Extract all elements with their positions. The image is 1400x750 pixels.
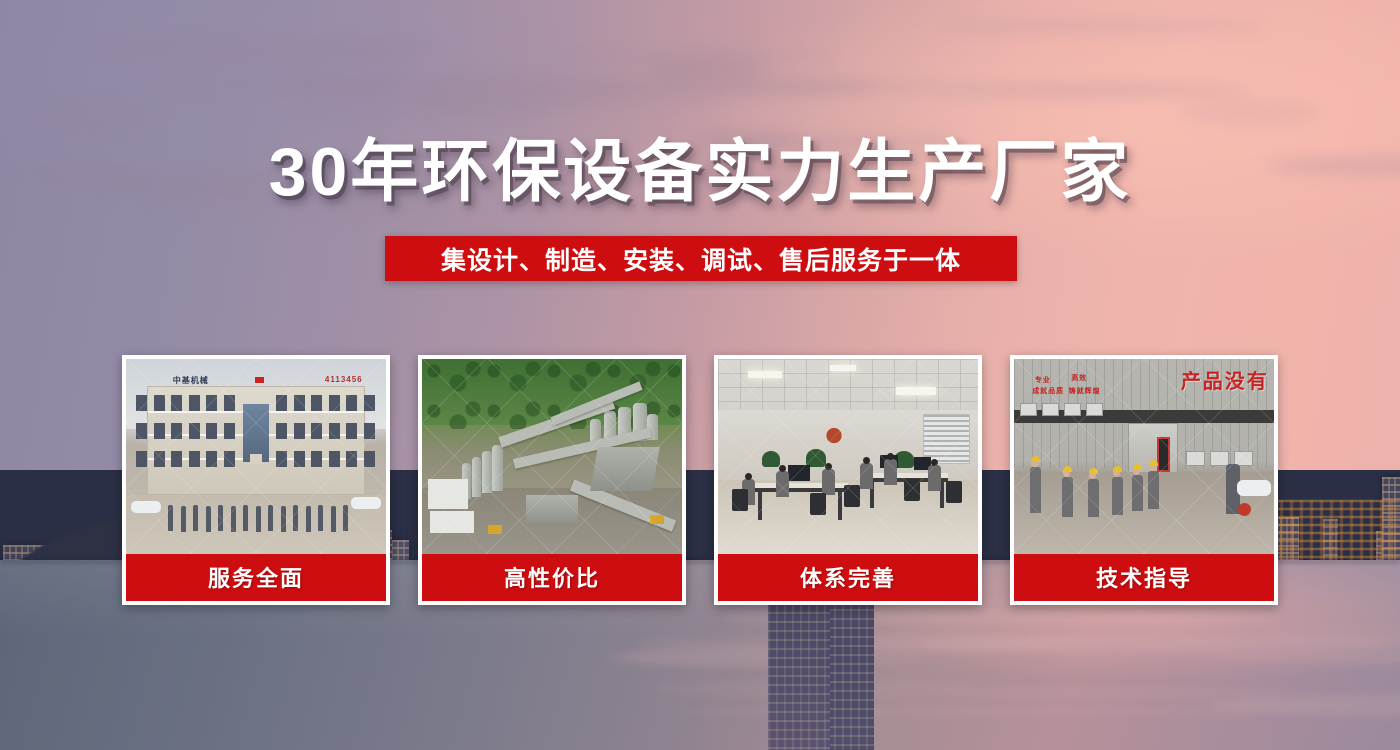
staff-figure (268, 505, 273, 531)
factory-window (1064, 403, 1081, 416)
ceiling-light (896, 387, 936, 395)
yellow-helmet (1089, 468, 1098, 474)
feature-card[interactable]: 产品没有 专业 成就品质 高效 铸就辉煌 技术指导 (1010, 355, 1278, 605)
potted-plant (762, 451, 780, 467)
worker-figure (1030, 467, 1041, 513)
worker-figure (1088, 479, 1099, 517)
yellow-machine (488, 525, 502, 534)
staff-figure (343, 505, 348, 531)
feature-card[interactable]: 中基机械 4113456 服务全面 (122, 355, 390, 605)
office-worker (928, 465, 941, 491)
feature-card[interactable]: 体系完善 (714, 355, 982, 605)
office-chair (810, 493, 826, 515)
office-worker (776, 471, 789, 497)
staff-figure (231, 506, 236, 532)
factory-sign-text: 产品没有 (1181, 365, 1269, 394)
card-label: 体系完善 (718, 554, 978, 601)
office-block (428, 479, 468, 509)
office-worker (884, 459, 897, 485)
card-label: 高性价比 (422, 554, 682, 601)
office-block (430, 511, 474, 533)
factory-window (1186, 451, 1205, 466)
card-label-text: 高性价比 (504, 561, 600, 593)
card-label: 技术指导 (1014, 554, 1274, 601)
office-chair (844, 485, 860, 507)
office-chair (904, 479, 920, 501)
worker-figure (1112, 477, 1123, 515)
factory-slogan-1: 专业 (1035, 375, 1051, 385)
card-photo-factory-workers: 产品没有 专业 成就品质 高效 铸就辉煌 (1014, 359, 1274, 554)
staff-figure (168, 505, 173, 531)
staff-figure (331, 506, 336, 532)
staff-figure (206, 506, 211, 532)
plant-shed (526, 495, 578, 525)
yellow-machine (650, 515, 664, 524)
factory-slogan-3: 成就品质 (1032, 386, 1064, 396)
staff-figure (243, 505, 248, 531)
ceiling-light (830, 365, 856, 371)
feature-cards: 中基机械 4113456 服务全面 (122, 355, 1278, 605)
silo (590, 419, 601, 441)
headline: 30年环保设备实力生产厂家 (0, 138, 1400, 206)
yellow-helmet (1133, 464, 1142, 470)
card-label-text: 体系完善 (800, 561, 896, 593)
staff-figure (193, 505, 198, 531)
flag-icon (255, 377, 264, 383)
ceiling-light (748, 371, 782, 378)
yellow-helmet (1113, 466, 1122, 472)
card-label: 服务全面 (126, 554, 386, 601)
factory-slogan-4: 铸就辉煌 (1069, 386, 1101, 396)
yellow-helmet (1149, 460, 1158, 466)
card-photo-office-interior (718, 359, 978, 554)
staff-figure (256, 506, 261, 532)
worker-figure (1062, 477, 1073, 517)
card-label-text: 服务全面 (208, 561, 304, 593)
factory-window (1042, 403, 1059, 416)
factory-window (1086, 403, 1103, 416)
card-photo-headquarters: 中基机械 4113456 (126, 359, 386, 554)
building-phone-text: 4113456 (325, 375, 363, 384)
red-helmet (1238, 503, 1251, 516)
monitor (788, 465, 810, 481)
card-photo-plant-aerial (422, 359, 682, 554)
staff-figure (293, 505, 298, 531)
office-chair (946, 481, 962, 503)
wall-logo (812, 417, 856, 448)
factory-slogan-2: 高效 (1071, 373, 1087, 383)
stack (472, 457, 481, 497)
feature-card[interactable]: 高性价比 (418, 355, 686, 605)
office-worker (860, 463, 873, 489)
card-label-text: 技术指导 (1096, 561, 1192, 593)
stack (492, 445, 503, 491)
yellow-helmet (1063, 466, 1072, 472)
subtitle-text: 集设计、制造、安装、调试、售后服务于一体 (441, 241, 961, 277)
staff-figure (306, 506, 311, 532)
worker-figure (1132, 475, 1143, 511)
office-chair (732, 489, 748, 511)
office-worker (822, 469, 835, 495)
staff-figure (318, 505, 323, 531)
promo-banner: 30年环保设备实力生产厂家 集设计、制造、安装、调试、售后服务于一体 (0, 0, 1400, 750)
staff-figure (281, 506, 286, 532)
plant-shed (590, 447, 660, 491)
factory-window (1020, 403, 1037, 416)
factory-window (1210, 451, 1229, 466)
stack (482, 451, 492, 493)
worker-figure (1148, 471, 1159, 509)
staff-figure (181, 506, 186, 532)
headline-text: 30年环保设备实力生产厂家 (269, 138, 1132, 206)
yellow-helmet (1031, 456, 1040, 462)
subtitle-bar: 集设计、制造、安装、调试、售后服务于一体 (385, 236, 1017, 281)
building-sign-text: 中基机械 (173, 375, 209, 386)
staff-figure (218, 505, 223, 531)
